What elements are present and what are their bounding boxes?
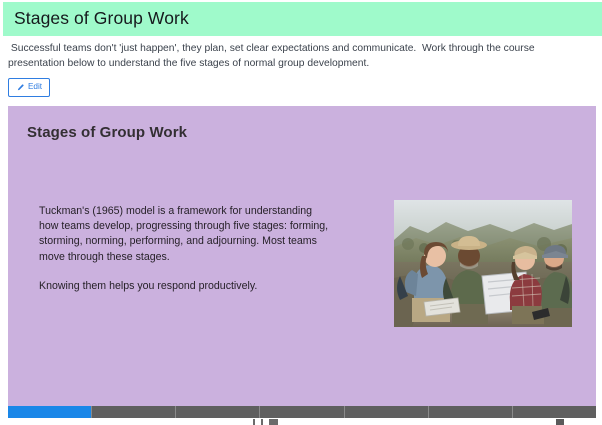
fullscreen-icon[interactable]: [556, 419, 564, 425]
edit-button[interactable]: Edit: [8, 78, 50, 97]
slide-card[interactable]: Stages of Group Work Tuckman's (1965) mo…: [8, 106, 596, 406]
slide-title: Stages of Group Work: [27, 124, 187, 141]
play-icon[interactable]: [253, 419, 255, 425]
progress-segment-1[interactable]: [8, 406, 92, 418]
intro-paragraph: Successful teams don't 'just happen', th…: [8, 41, 592, 71]
progress-segment-3[interactable]: [176, 406, 260, 418]
progress-segment-6[interactable]: [429, 406, 513, 418]
progress-segment-4[interactable]: [260, 406, 344, 418]
page-banner: Stages of Group Work: [3, 2, 602, 36]
progress-segment-7[interactable]: [513, 406, 596, 418]
pencil-icon: [16, 84, 24, 92]
slide-body: Tuckman's (1965) model is a framework fo…: [39, 204, 329, 294]
player-toolbar: [0, 418, 602, 425]
edit-button-label: Edit: [28, 83, 42, 91]
player-controls[interactable]: [253, 419, 278, 425]
slide-paragraph-2: Knowing them helps you respond productiv…: [39, 279, 329, 294]
slide-paragraph-1: Tuckman's (1965) model is a framework fo…: [39, 204, 329, 265]
slides-icon[interactable]: [269, 419, 278, 425]
page-title: Stages of Group Work: [3, 10, 189, 28]
presentation-page: Stages of Group Work Successful teams do…: [0, 0, 602, 425]
progress-segment-2[interactable]: [92, 406, 176, 418]
pause-icon[interactable]: [261, 419, 263, 425]
slide-progress-bar[interactable]: [8, 406, 596, 418]
slide-photo: [394, 200, 572, 327]
progress-segment-5[interactable]: [345, 406, 429, 418]
